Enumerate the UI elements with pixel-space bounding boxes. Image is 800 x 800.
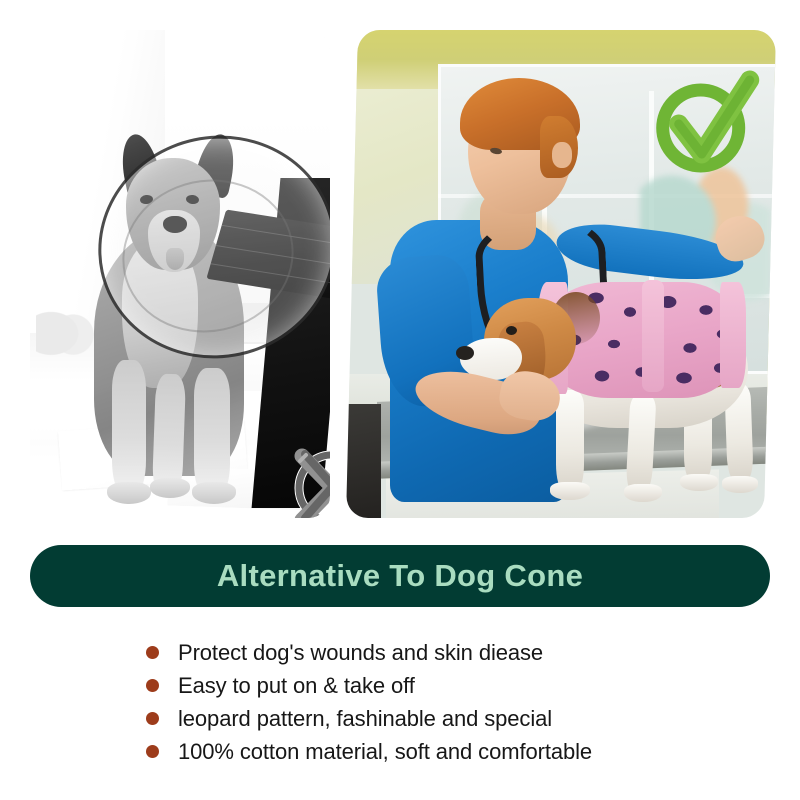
blurred-bottles [36,298,96,357]
shepherd-leg [112,360,146,492]
beagle-paw [624,484,662,502]
check-mark-badge [646,62,766,182]
product-infographic: Alternative To Dog Cone Protect dog's wo… [0,0,800,800]
list-item: leopard pattern, fashinable and special [146,702,766,735]
bullet-dot-icon [146,712,159,725]
shepherd-leg [194,368,230,494]
feature-list: Protect dog's wounds and skin diease Eas… [146,636,766,768]
beagle-eye [506,326,517,335]
list-item: 100% cotton material, soft and comfortab… [146,735,766,768]
bullet-dot-icon [146,679,159,692]
recovery-suit-photo-panel [346,30,776,518]
bullet-dot-icon [146,745,159,758]
list-item: Protect dog's wounds and skin diease [146,636,766,669]
page-title: Alternative To Dog Cone [217,558,583,594]
suit-mid-band [642,280,664,392]
beagle-paw [680,474,718,491]
beagle-nose [456,346,474,360]
bullet-dot-icon [146,646,159,659]
beagle-paw [550,482,590,500]
title-banner: Alternative To Dog Cone [30,545,770,607]
suit-rear-band [720,282,746,388]
dog-cone-photo-panel [30,30,330,518]
feature-text: Protect dog's wounds and skin diease [178,640,543,666]
feature-text: leopard pattern, fashinable and special [178,706,552,732]
x-mark-badge [276,430,330,518]
dark-foreground-strip [346,404,381,518]
shepherd-paw [150,478,190,498]
beagle-leg [556,390,584,490]
shepherd-paw [192,482,236,504]
vet-ear [552,142,572,168]
feature-text: 100% cotton material, soft and comfortab… [178,739,592,765]
shepherd-leg [152,374,186,495]
list-item: Easy to put on & take off [146,669,766,702]
shepherd-paw [107,482,151,504]
beagle-paw [722,476,758,493]
feature-text: Easy to put on & take off [178,673,415,699]
